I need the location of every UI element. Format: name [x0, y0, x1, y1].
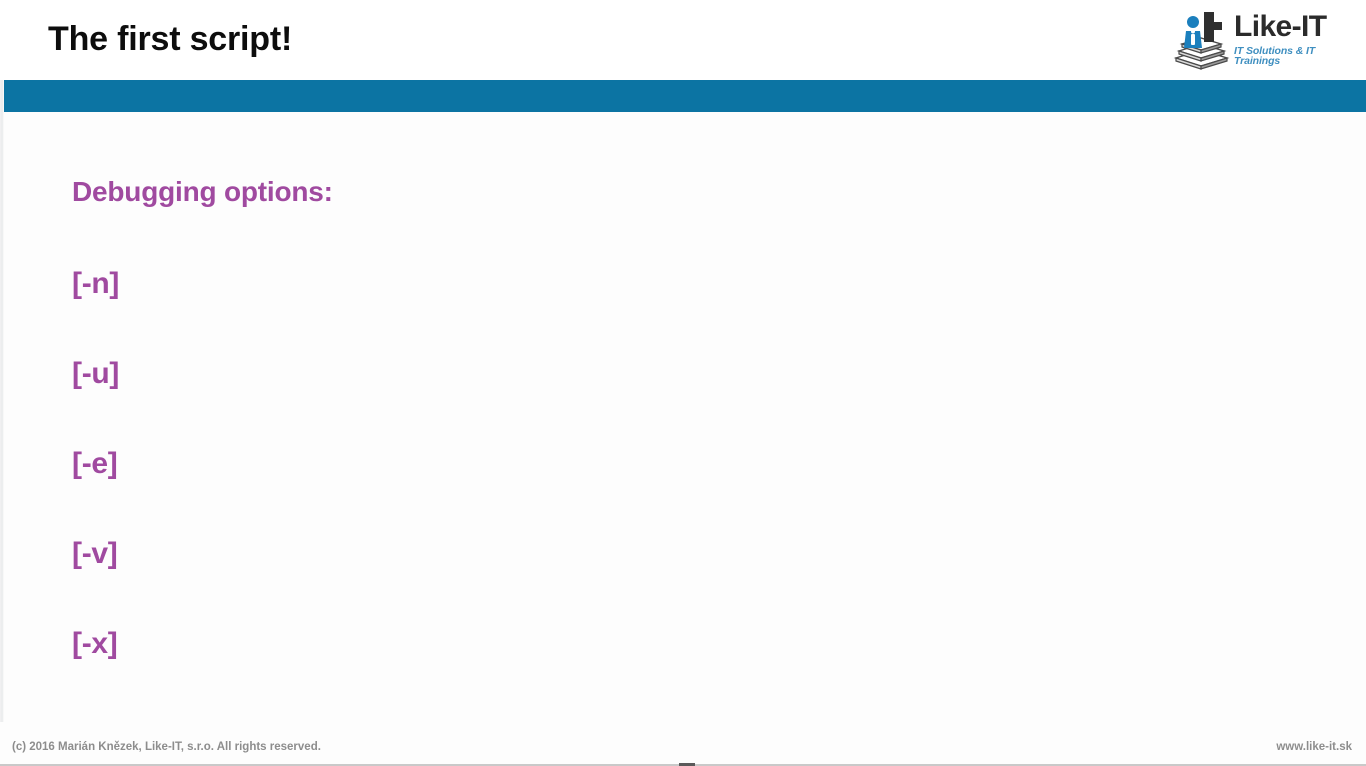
section-heading: Debugging options: [72, 176, 333, 208]
logo-tagline: IT Solutions & IT Trainings [1234, 46, 1362, 67]
footer-website: www.like-it.sk [1276, 741, 1352, 753]
slide-canvas: The first script! [0, 0, 1366, 766]
slide-footer: (c) 2016 Marián Knězek, Like-IT, s.r.o. … [0, 722, 1366, 766]
slide-header: The first script! [0, 0, 1366, 80]
footer-copyright: (c) 2016 Marián Knězek, Like-IT, s.r.o. … [12, 741, 321, 753]
slide-body: Debugging options: [-n] [-u] [-e] [-v] [… [0, 112, 1366, 722]
list-item: [-v] [72, 537, 472, 627]
list-item: [-n] [72, 267, 472, 357]
books-stack-with-i-icon [1170, 8, 1232, 70]
brand-logo: Like-IT IT Solutions & IT Trainings [1170, 6, 1362, 72]
page-title: The first script! [48, 20, 292, 59]
accent-band [4, 80, 1366, 112]
list-item: [-e] [72, 447, 472, 537]
logo-text: Like-IT IT Solutions & IT Trainings [1234, 12, 1362, 67]
list-item: [-u] [72, 357, 472, 447]
list-item: [-x] [72, 627, 472, 717]
debug-option-list: [-n] [-u] [-e] [-v] [-x] [72, 267, 472, 717]
logo-name: Like-IT [1234, 12, 1362, 42]
